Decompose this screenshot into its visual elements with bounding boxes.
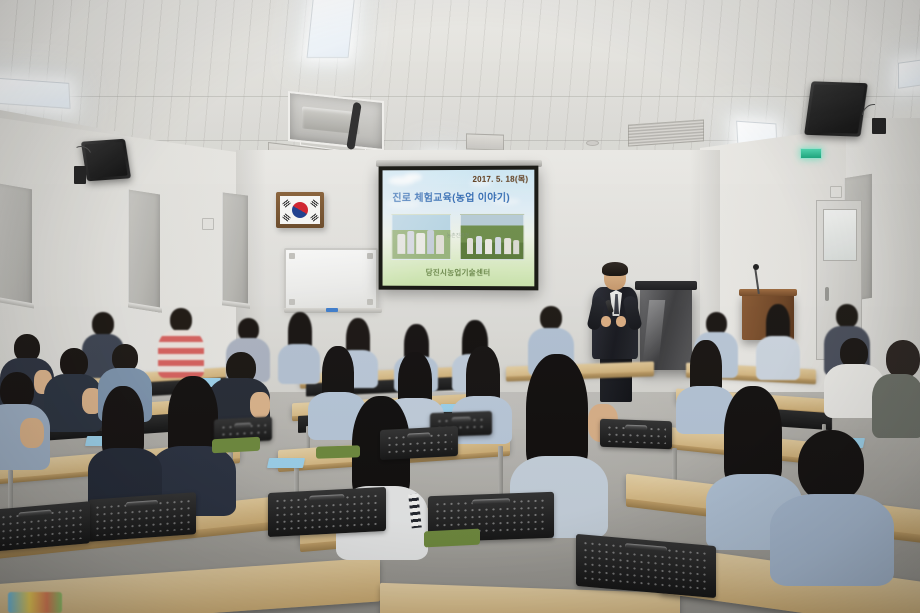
slide-watermark: 농촌진흥청: [447, 232, 470, 239]
chair-seat[interactable]: [212, 437, 260, 454]
slide-photo-left: [391, 214, 451, 260]
window-blind[interactable]: [0, 183, 32, 308]
wall-speaker-right: [804, 81, 868, 136]
korean-flag-frame: [276, 192, 324, 228]
projection-screen: 2017. 5. 18(목) 진로 체험교육(농업 이야기) 농촌진흥청 당진시…: [379, 166, 539, 291]
handout-sheet[interactable]: [267, 458, 305, 468]
slide-footer: 당진시농업기술센터: [383, 267, 535, 279]
ceiling-light: [898, 57, 920, 89]
wall-outlet[interactable]: [830, 186, 842, 198]
ceiling-light: [0, 77, 71, 109]
projector-housing: [288, 91, 384, 151]
whiteboard-marker[interactable]: [326, 308, 338, 312]
smoke-detector-icon: [586, 140, 599, 146]
chair[interactable]: [88, 492, 196, 542]
speaker-bracket: [74, 166, 86, 184]
chair-seat[interactable]: [424, 529, 480, 548]
window-blind[interactable]: [128, 189, 160, 312]
av-console-cabinet: [640, 288, 692, 370]
ceiling-service-panel: [466, 133, 504, 150]
taeguk-circle-icon: [292, 202, 308, 218]
slide-photo-right: [460, 214, 524, 260]
wall-outlet[interactable]: [202, 218, 214, 230]
door-handle[interactable]: [825, 287, 829, 301]
chair[interactable]: [600, 419, 672, 450]
chair-seat[interactable]: [316, 445, 360, 459]
desk-item[interactable]: [8, 592, 62, 613]
clapping-hands: [20, 418, 44, 448]
clapping-hands: [250, 392, 270, 418]
slide-title: 진로 체험교육(농업 이야기): [392, 189, 510, 204]
slide-content: 2017. 5. 18(목) 진로 체험교육(농업 이야기) 농촌진흥청 당진시…: [383, 170, 535, 287]
microphone-head-icon: [753, 264, 759, 270]
window-blind[interactable]: [222, 192, 248, 307]
door-window: [823, 209, 857, 261]
classroom-photo: 2017. 5. 18(목) 진로 체험교육(농업 이야기) 농촌진흥청 당진시…: [0, 0, 920, 613]
chair[interactable]: [268, 487, 386, 537]
ceiling-light: [307, 0, 356, 58]
chair[interactable]: [380, 426, 458, 460]
whiteboard[interactable]: [284, 248, 378, 310]
exit-sign-icon: [800, 148, 822, 159]
slide-date: 2017. 5. 18(목): [472, 174, 528, 185]
